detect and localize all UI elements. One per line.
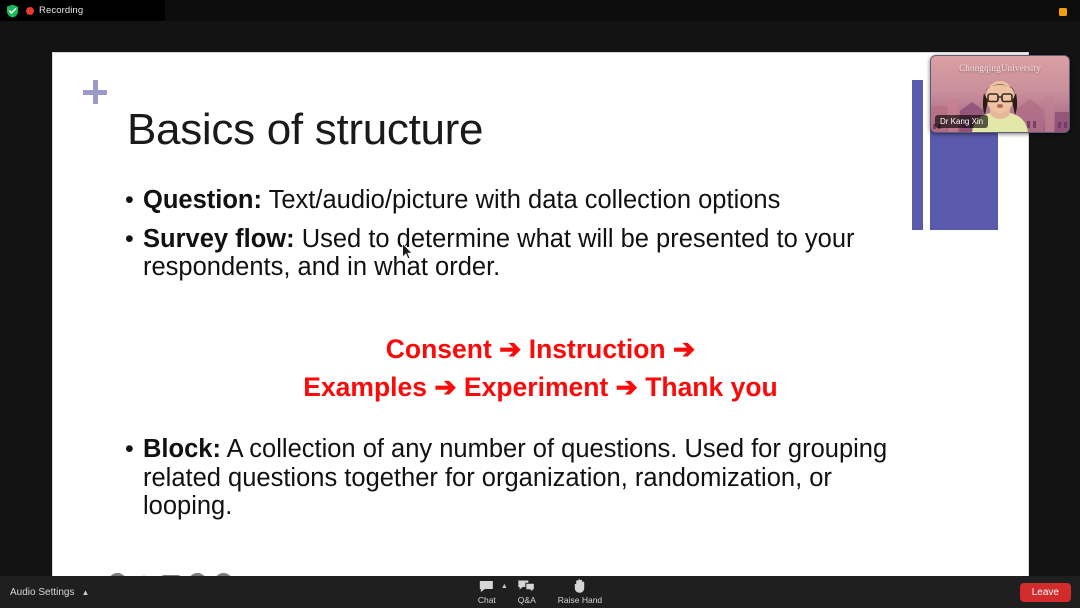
chat-bubble-icon	[479, 579, 494, 593]
bullet-lead: Question:	[143, 186, 262, 214]
chevron-up-icon[interactable]: ▲	[501, 583, 508, 590]
shared-screen-stage: Basics of structure • Question: Text/aud…	[0, 21, 1080, 576]
slide-flow-diagram: Consent ➔ Instruction ➔ Examples ➔ Exper…	[53, 331, 1028, 406]
raise-hand-button[interactable]: Raise Hand	[558, 579, 602, 605]
list-item: • Question: Text/audio/picture with data…	[125, 186, 965, 215]
raise-hand-label: Raise Hand	[558, 595, 602, 605]
recording-indicator[interactable]: Recording	[26, 5, 83, 16]
participant-video-thumbnail[interactable]: ChongqingUniversity Dr Kang Xin	[930, 55, 1070, 133]
amber-status-indicator-icon	[1059, 8, 1067, 16]
flow-line-2: Examples ➔ Experiment ➔ Thank you	[53, 369, 1028, 407]
leave-button[interactable]: Leave	[1020, 583, 1071, 602]
slide-bullets-top: • Question: Text/audio/picture with data…	[125, 186, 965, 292]
recording-status-bar: Recording	[0, 0, 165, 21]
qa-label: Q&A	[518, 595, 536, 605]
qa-button[interactable]: Q&A	[518, 579, 536, 605]
list-item: • Survey flow: Used to determine what wi…	[125, 225, 965, 282]
qa-bubbles-icon	[518, 579, 535, 593]
flow-line-1: Consent ➔ Instruction ➔	[53, 331, 1028, 369]
presentation-slide: Basics of structure • Question: Text/aud…	[53, 53, 1028, 597]
bullet-text: Block: A collection of any number of que…	[143, 435, 925, 521]
bullet-marker: •	[125, 435, 143, 521]
shield-check-icon	[6, 4, 19, 18]
toolbar-center-actions: Chat ▲ Q&A Raise Hand	[478, 579, 602, 605]
slide-title: Basics of structure	[127, 106, 483, 154]
slide-bullets-bottom: • Block: A collection of any number of q…	[125, 435, 925, 531]
bullet-marker: •	[125, 225, 143, 282]
bullet-text: Question: Text/audio/picture with data c…	[143, 186, 965, 215]
participant-name-label: Dr Kang Xin	[935, 115, 988, 128]
bullet-text: Survey flow: Used to determine what will…	[143, 225, 965, 282]
bullet-lead: Block:	[143, 435, 221, 463]
chevron-up-icon[interactable]: ▲	[82, 588, 90, 597]
audio-settings-button[interactable]: Audio Settings ▲	[10, 587, 89, 598]
audio-settings-label: Audio Settings	[10, 587, 75, 598]
bullet-body: A collection of any number of questions.…	[143, 435, 887, 520]
zoom-meeting-window: Recording Basics of structure • Question…	[0, 0, 1080, 608]
record-dot-icon	[26, 7, 34, 15]
raise-hand-icon	[574, 579, 586, 593]
plus-decoration-icon	[83, 80, 107, 104]
chat-button[interactable]: Chat ▲	[478, 579, 496, 605]
video-org-label: ChongqingUniversity	[931, 63, 1069, 73]
chat-label: Chat	[478, 595, 496, 605]
list-item: • Block: A collection of any number of q…	[125, 435, 925, 521]
recording-label: Recording	[39, 5, 83, 16]
bullet-marker: •	[125, 186, 143, 215]
bullet-lead: Survey flow:	[143, 225, 295, 253]
bullet-body: Text/audio/picture with data collection …	[262, 186, 780, 214]
meeting-toolbar: Audio Settings ▲ Chat ▲	[0, 576, 1080, 608]
